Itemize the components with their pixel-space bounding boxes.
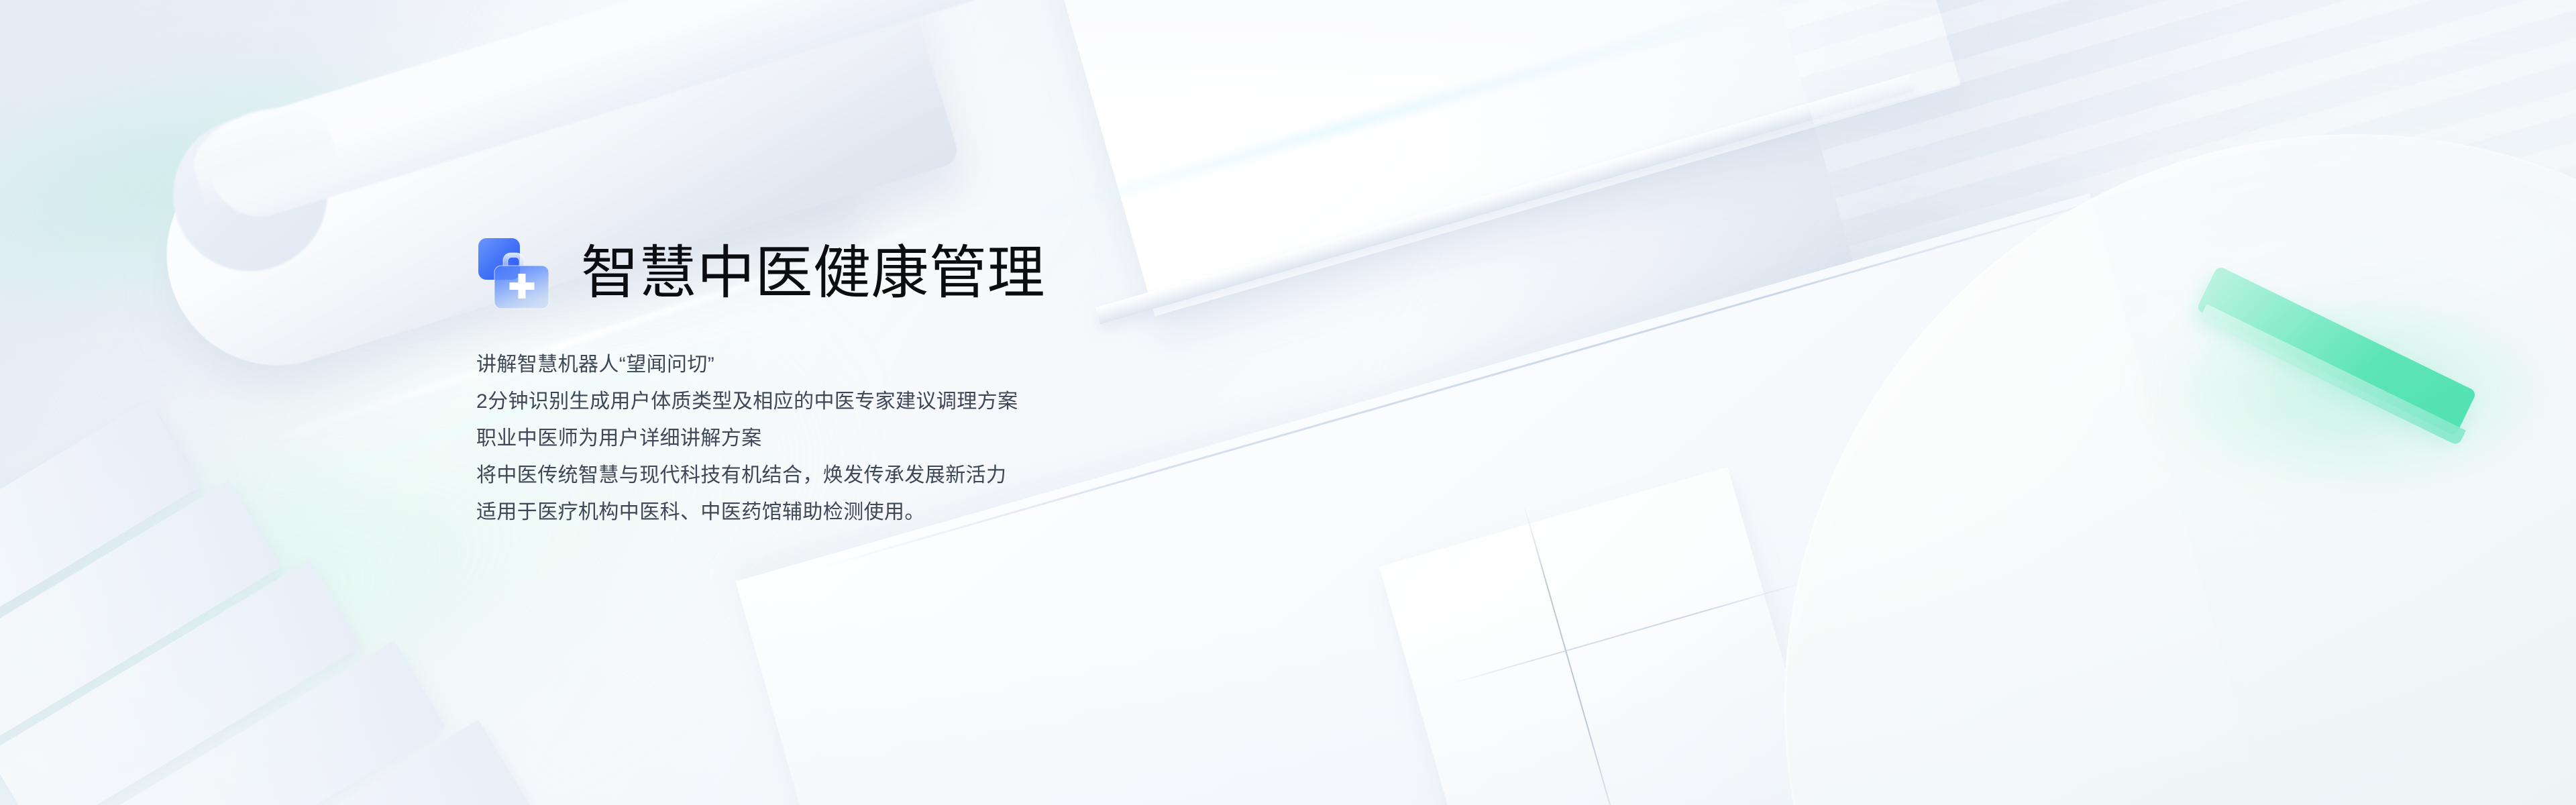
mint-glow-top-left (0, 0, 548, 378)
description-line: 将中医传统智慧与现代科技有机结合，焕发传承发展新活力 (476, 457, 1415, 494)
mint-glow-bottom-right (1811, 215, 2576, 805)
fin-2 (0, 481, 281, 761)
banner-content: 智慧中医健康管理 讲解智慧机器人“望闻问切” 2分钟识别生成用户体质类型及相应的… (476, 236, 1415, 531)
description-line: 适用于医疗机构中医科、中医药馆辅助检测使用。 (476, 494, 1415, 531)
curl-inner-roll (154, 99, 347, 290)
mint-glow-right (2133, 80, 2549, 429)
square-tile-seam-horizontal (1444, 582, 1806, 686)
description-line: 讲解智慧机器人“望闻问切” (476, 346, 1415, 383)
green-accent-bar (2196, 265, 2477, 436)
fin-1 (0, 400, 201, 680)
square-tile-shape (1379, 467, 1827, 805)
description-line: 2分钟识别生成用户体质类型及相应的中医专家建议调理方案 (476, 383, 1415, 420)
green-accent-glow (2133, 282, 2576, 496)
description-block: 讲解智慧机器人“望闻问切” 2分钟识别生成用户体质类型及相应的中医专家建议调理方… (476, 346, 1415, 531)
fin-3 (0, 560, 362, 805)
medical-kit-icon (476, 236, 551, 311)
light-streak-3 (957, 0, 1927, 241)
bottom-right-arc (1784, 134, 2576, 805)
bottom-right-arc-edge (1784, 134, 2576, 805)
curl-top-face (197, 0, 983, 229)
curl-highlight (246, 0, 934, 158)
diagonal-stripes-right (1767, 0, 2576, 669)
square-tile-seam-vertical (1523, 505, 1628, 805)
hero-banner: 智慧中医健康管理 讲解智慧机器人“望闻问切” 2分钟识别生成用户体质类型及相应的… (0, 0, 2576, 805)
diagonal-stripes-right-fine (2046, 20, 2576, 651)
curl-lip (183, 93, 341, 211)
description-line: 职业中医师为用户详细讲解方案 (476, 420, 1415, 457)
fin-5 (156, 720, 530, 805)
headline-row: 智慧中医健康管理 (476, 236, 1415, 311)
green-accent-bar-face (2199, 304, 2466, 446)
page-title: 智慧中医健康管理 (581, 243, 1045, 304)
fin-4 (72, 641, 445, 805)
